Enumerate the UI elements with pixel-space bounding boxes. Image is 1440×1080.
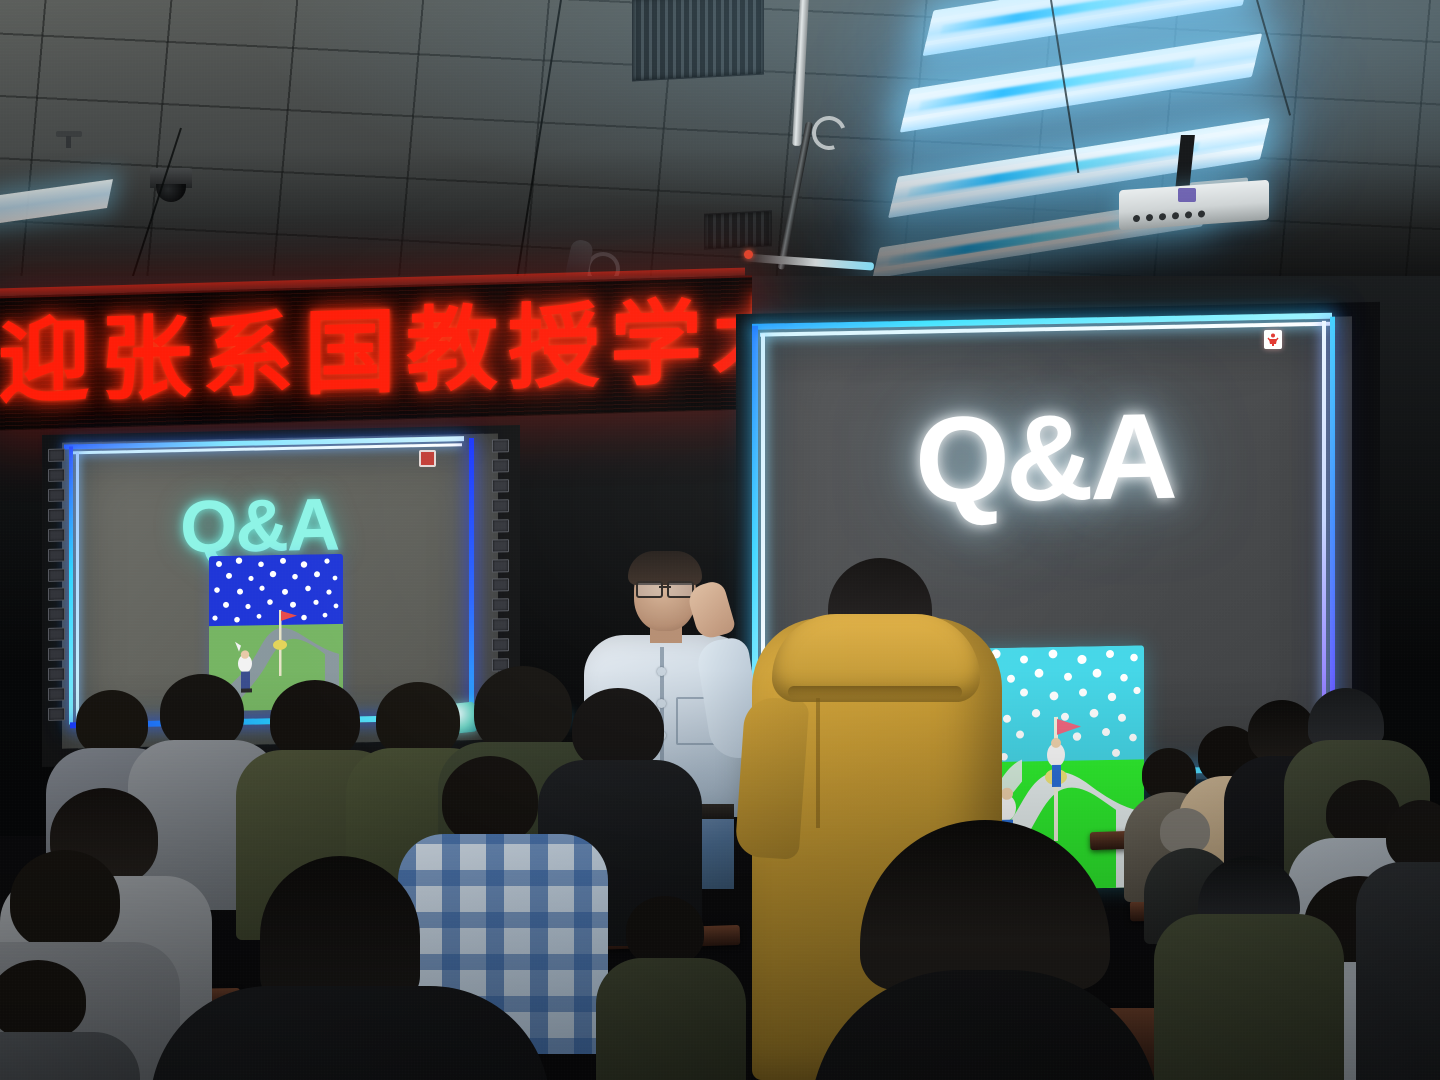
whiteboard-button-icon[interactable] xyxy=(492,579,509,592)
ceiling xyxy=(0,0,1440,300)
led-banner-text: 迎张系国教授学术 xyxy=(0,280,752,425)
whiteboard-button-icon[interactable] xyxy=(492,439,509,452)
led-scrolling-banner: 迎张系国教授学术 xyxy=(0,275,752,430)
whiteboard-button-icon[interactable] xyxy=(492,539,509,552)
indicator-led xyxy=(744,250,753,259)
whiteboard-button-icon[interactable] xyxy=(492,479,509,492)
eyeglasses-icon xyxy=(636,581,694,594)
whiteboard-button-icon[interactable] xyxy=(48,468,65,481)
whiteboard-button-icon[interactable] xyxy=(48,608,65,621)
whiteboard-button-icon[interactable] xyxy=(48,628,65,641)
projector-button-icon xyxy=(1185,211,1192,218)
whiteboard-button-icon[interactable] xyxy=(492,459,509,472)
whiteboard-button-icon[interactable] xyxy=(48,548,65,561)
projector-button-icon xyxy=(1159,213,1166,220)
projector-button-icon xyxy=(1146,214,1153,221)
main-slide-title: Q&A xyxy=(915,386,1174,531)
whiteboard-button-icon[interactable] xyxy=(48,449,65,462)
whiteboard-button-icon[interactable] xyxy=(492,499,509,512)
whiteboard-button-icon[interactable] xyxy=(48,568,65,581)
whiteboard-button-icon[interactable] xyxy=(48,528,65,541)
whiteboard-button-icon[interactable] xyxy=(492,519,509,532)
person-red-icon xyxy=(419,450,436,467)
audience xyxy=(0,660,1440,1080)
whiteboard-button-icon[interactable] xyxy=(492,559,509,572)
ceiling-shading xyxy=(0,0,1440,300)
projector-button-icon xyxy=(1172,212,1179,219)
whiteboard-button-icon[interactable] xyxy=(492,638,509,651)
presenter-hair xyxy=(628,551,702,585)
whiteboard-button-icon[interactable] xyxy=(492,619,509,632)
projector-cable-connector xyxy=(1178,188,1196,202)
whiteboard-button-icon[interactable] xyxy=(48,588,65,601)
projector-button-icon xyxy=(1198,210,1205,217)
whiteboard-button-icon[interactable] xyxy=(48,488,65,501)
lecture-hall-photo: 迎张系国教授学术 Q&A xyxy=(0,0,1440,1080)
whiteboard-button-icon[interactable] xyxy=(48,508,65,521)
whiteboard-button-icon[interactable] xyxy=(492,599,509,612)
projector-lens-icon xyxy=(1133,215,1140,222)
projector-controls xyxy=(1133,210,1205,222)
person-red-icon xyxy=(1264,330,1282,349)
